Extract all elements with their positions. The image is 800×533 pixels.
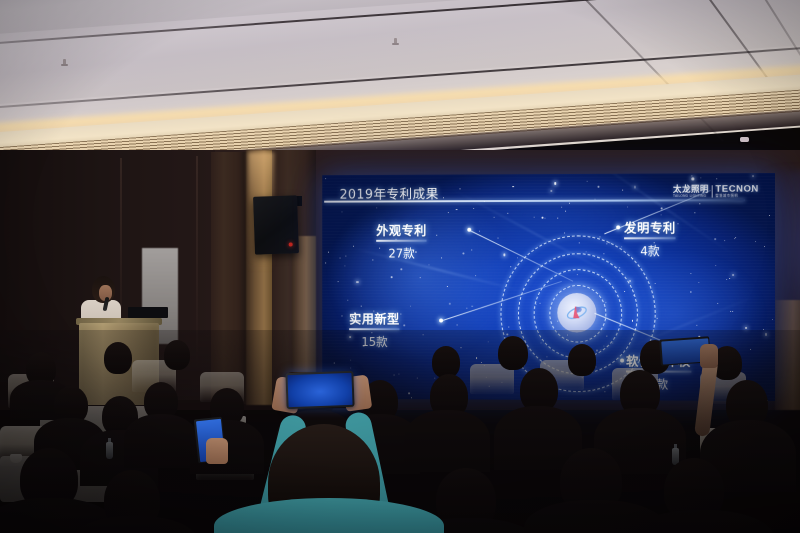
photographer-torso xyxy=(214,498,444,533)
conference-photo-scene: 2019年专利成果 太龙照明 TAILONG LIGHTING TECNON 智… xyxy=(0,0,800,533)
photographer-smartphone xyxy=(285,371,354,409)
smartphone-screen xyxy=(287,373,352,407)
hand xyxy=(206,438,228,464)
foreground-photographer xyxy=(0,0,800,533)
